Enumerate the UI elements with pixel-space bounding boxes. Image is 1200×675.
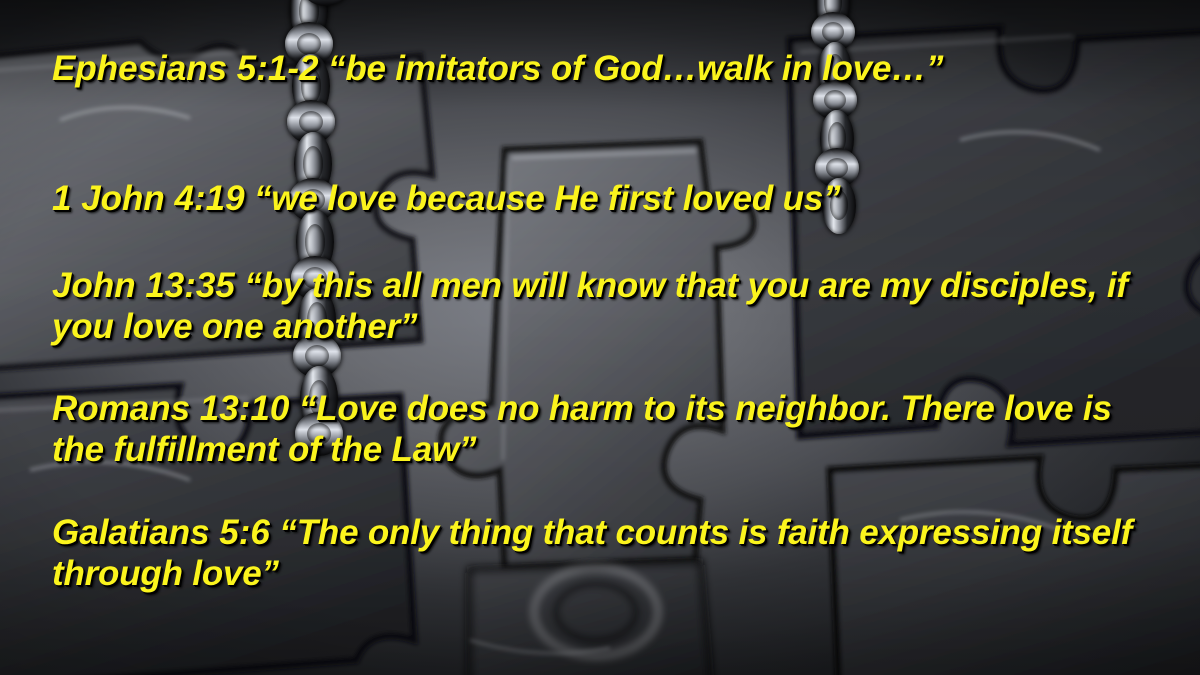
verse-block: Romans 13:10 “Love does no harm to its n… (52, 388, 1172, 470)
verse-reference: Ephesians 5:1-2 (52, 49, 319, 88)
verse-reference: 1 John 4:19 (52, 179, 245, 218)
verse-quote: “be imitators of God…walk in love…” (328, 49, 943, 88)
verse-reference: Romans 13:10 (52, 389, 289, 428)
verse-block: 1 John 4:19 “we love because He first lo… (52, 178, 1172, 219)
verse-block: John 13:35 “by this all men will know th… (52, 265, 1172, 347)
verse-reference: John 13:35 (52, 266, 235, 305)
verse-quote: “we love because He first loved us” (254, 179, 840, 218)
verse-block: Galatians 5:6 “The only thing that count… (52, 512, 1172, 594)
verse-reference: Galatians 5:6 (52, 513, 270, 552)
slide-canvas: Ephesians 5:1-2 “be imitators of God…wal… (0, 0, 1200, 675)
verse-list: Ephesians 5:1-2 “be imitators of God…wal… (0, 0, 1200, 675)
verse-block: Ephesians 5:1-2 “be imitators of God…wal… (52, 48, 1172, 89)
